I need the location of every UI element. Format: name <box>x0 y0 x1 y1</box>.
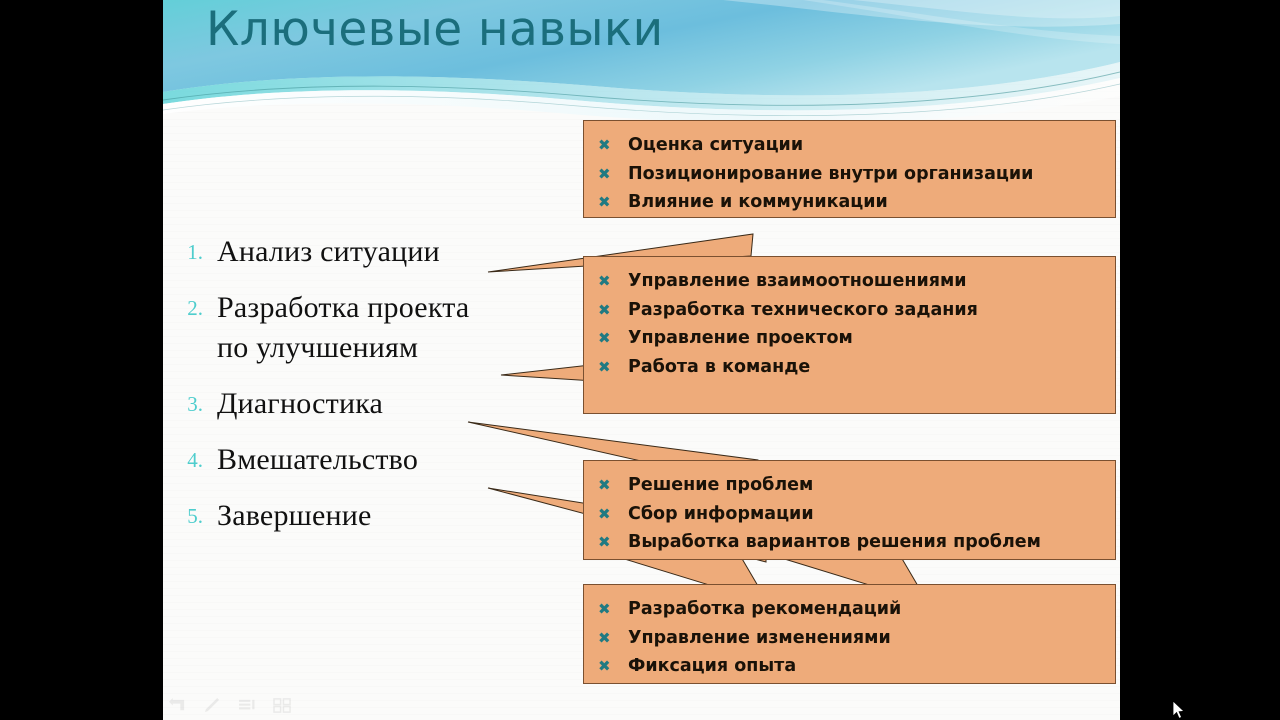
callout-item: ✖ Оценка ситуации <box>598 131 1101 160</box>
list-item-label: Анализ ситуации <box>217 232 440 272</box>
callout-item: ✖ Работа в команде <box>598 353 1101 382</box>
cross-bullet-icon: ✖ <box>598 324 628 353</box>
callout-item-label: Решение проблем <box>628 471 813 500</box>
callout-item-label: Разработка технического задания <box>628 296 978 325</box>
cross-bullet-icon: ✖ <box>598 160 628 189</box>
list-item: 3. Диагностика <box>171 384 571 424</box>
callout-item-label: Управление взаимоотношениями <box>628 267 967 296</box>
callout-item-label: Позиционирование внутри организации <box>628 160 1033 189</box>
mouse-cursor <box>1172 700 1186 720</box>
list-item-label: Разработка проекта по улучшениям <box>217 288 469 368</box>
cross-bullet-icon: ✖ <box>598 624 628 653</box>
callout-list: ✖ Решение проблем ✖ Сбор информации ✖ Вы… <box>598 471 1101 557</box>
callout-box-2: ✖ Управление взаимоотношениями ✖ Разрабо… <box>583 256 1116 414</box>
callout-item-label: Управление изменениями <box>628 624 891 653</box>
callout-item: ✖ Разработка технического задания <box>598 296 1101 325</box>
callout-item-label: Управление проектом <box>628 324 853 353</box>
list-item-label-line2: по улучшениям <box>217 328 469 368</box>
cross-bullet-icon: ✖ <box>598 188 628 217</box>
cross-bullet-icon: ✖ <box>598 296 628 325</box>
previous-slide-icon[interactable] <box>168 697 187 714</box>
callout-item: ✖ Выработка вариантов решения проблем <box>598 528 1101 557</box>
list-item: 4. Вмешательство <box>171 440 571 480</box>
list-item-number: 2. <box>171 288 217 328</box>
list-item: 5. Завершение <box>171 496 571 536</box>
callout-box-1: ✖ Оценка ситуации ✖ Позиционирование вну… <box>583 120 1116 218</box>
callout-item: ✖ Управление проектом <box>598 324 1101 353</box>
list-item-label: Диагностика <box>217 384 383 424</box>
list-item-number: 1. <box>171 232 217 272</box>
slide-menu-icon[interactable] <box>238 697 257 714</box>
callout-item: ✖ Управление взаимоотношениями <box>598 267 1101 296</box>
callout-list: ✖ Управление взаимоотношениями ✖ Разрабо… <box>598 267 1101 381</box>
list-item: 2. Разработка проекта по улучшениям <box>171 288 571 368</box>
callout-item-label: Разработка рекомендаций <box>628 595 901 624</box>
callout-box-3: ✖ Решение проблем ✖ Сбор информации ✖ Вы… <box>583 460 1116 560</box>
grid-view-icon[interactable] <box>273 697 292 714</box>
callout-item: ✖ Управление изменениями <box>598 624 1101 653</box>
callout-list: ✖ Разработка рекомендаций ✖ Управление и… <box>598 595 1101 681</box>
presenter-toolbar[interactable] <box>168 697 292 714</box>
callout-item-label: Фиксация опыта <box>628 652 796 681</box>
callout-item-label: Влияние и коммуникации <box>628 188 888 217</box>
list-item-label: Завершение <box>217 496 372 536</box>
list-item-label-line1: Разработка проекта <box>217 291 469 324</box>
list-item-label: Вмешательство <box>217 440 418 480</box>
callout-item-label: Оценка ситуации <box>628 131 803 160</box>
callout-item: ✖ Влияние и коммуникации <box>598 188 1101 217</box>
callout-item: ✖ Позиционирование внутри организации <box>598 160 1101 189</box>
callout-box-4: ✖ Разработка рекомендаций ✖ Управление и… <box>583 584 1116 684</box>
callout-item: ✖ Фиксация опыта <box>598 652 1101 681</box>
cross-bullet-icon: ✖ <box>598 353 628 382</box>
list-item: 1. Анализ ситуации <box>171 232 571 272</box>
pen-icon[interactable] <box>203 697 222 714</box>
video-frame: Ключевые навыки 1. Анализ ситуации <box>0 0 1280 720</box>
cross-bullet-icon: ✖ <box>598 595 628 624</box>
cross-bullet-icon: ✖ <box>598 528 628 557</box>
slide-title: Ключевые навыки <box>206 2 664 57</box>
callout-item-label: Сбор информации <box>628 500 814 529</box>
callout-item-label: Работа в команде <box>628 353 810 382</box>
list-item-number: 4. <box>171 440 217 480</box>
list-item-number: 5. <box>171 496 217 536</box>
callout-item: ✖ Сбор информации <box>598 500 1101 529</box>
callout-item-label: Выработка вариантов решения проблем <box>628 528 1041 557</box>
cross-bullet-icon: ✖ <box>598 131 628 160</box>
cross-bullet-icon: ✖ <box>598 652 628 681</box>
callout-item: ✖ Решение проблем <box>598 471 1101 500</box>
list-item-number: 3. <box>171 384 217 424</box>
cross-bullet-icon: ✖ <box>598 471 628 500</box>
callout-item: ✖ Разработка рекомендаций <box>598 595 1101 624</box>
cross-bullet-icon: ✖ <box>598 267 628 296</box>
cross-bullet-icon: ✖ <box>598 500 628 529</box>
callout-list: ✖ Оценка ситуации ✖ Позиционирование вну… <box>598 131 1101 217</box>
presentation-slide: Ключевые навыки 1. Анализ ситуации <box>163 0 1120 720</box>
numbered-list: 1. Анализ ситуации 2. Разработка проекта… <box>171 232 571 552</box>
